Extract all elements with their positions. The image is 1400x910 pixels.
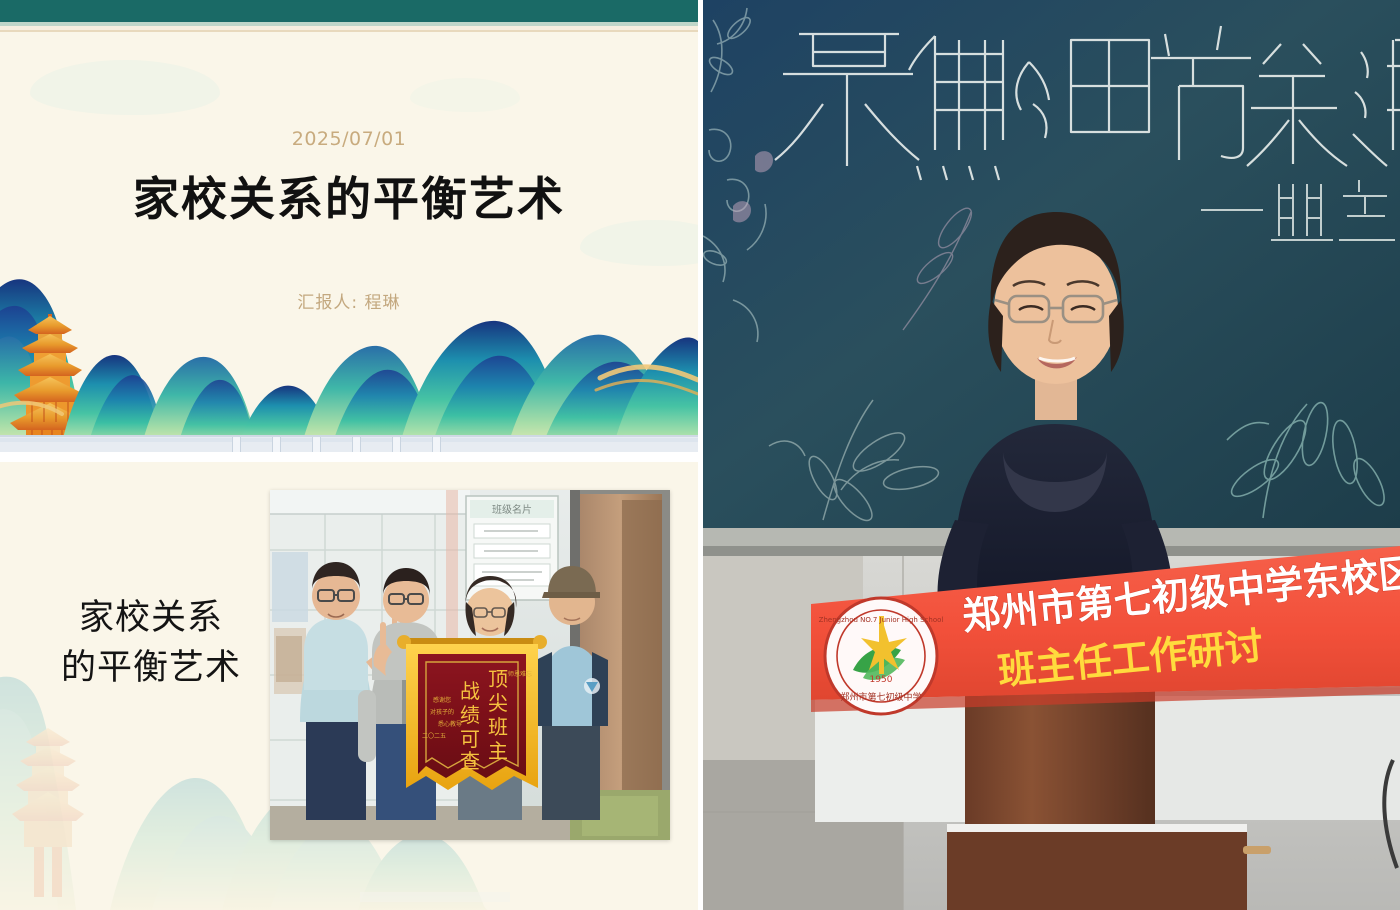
slide-separator-gap: [0, 452, 698, 462]
presentation-photo[interactable]: ThinkPad ThinkPad 1950 Zhengzhou NO.7: [703, 0, 1400, 910]
photo-slide[interactable]: 家校关系 的平衡艺术: [0, 462, 698, 910]
balustrade-decor: [0, 435, 698, 452]
svg-text:感谢您: 感谢您: [433, 696, 451, 704]
svg-text:绩: 绩: [460, 703, 480, 727]
svg-text:可: 可: [460, 727, 480, 751]
photo-slide-title-line1: 家校关系: [36, 594, 266, 644]
slide-top-accent-bar: [0, 0, 698, 22]
svg-text:战: 战: [460, 679, 480, 703]
svg-text:顶: 顶: [488, 667, 508, 691]
svg-text:1950: 1950: [870, 675, 893, 685]
screenshot-root: 2025/07/01 家校关系的平衡艺术 汇报人: 程琳: [0, 0, 1400, 910]
students-teacher-pennant-photo[interactable]: 班级名片: [270, 490, 670, 840]
svg-text:郑州市第七初级中学: 郑州市第七初级中学: [840, 691, 921, 703]
svg-text:班级名片: 班级名片: [492, 503, 532, 516]
photo-slide-title-line2: 的平衡艺术: [36, 644, 266, 694]
svg-text:悉心教导: 悉心教导: [438, 720, 462, 728]
svg-text:查: 查: [460, 749, 480, 773]
left-slide-column: 2025/07/01 家校关系的平衡艺术 汇报人: 程琳: [0, 0, 698, 910]
svg-text:二〇二五: 二〇二五: [422, 733, 446, 740]
slide-date: 2025/07/01: [0, 128, 698, 150]
svg-text:尖: 尖: [488, 691, 508, 715]
title-slide[interactable]: 2025/07/01 家校关系的平衡艺术 汇报人: 程琳: [0, 0, 698, 452]
photo-slide-title: 家校关系 的平衡艺术: [36, 594, 266, 693]
svg-text:师恩难忘: 师恩难忘: [508, 670, 532, 678]
svg-text:班: 班: [488, 715, 508, 739]
svg-text:对孩子的: 对孩子的: [430, 708, 454, 716]
slide-main-title: 家校关系的平衡艺术: [0, 163, 698, 229]
svg-text:主: 主: [488, 739, 508, 763]
svg-text:Zhengzhou NO.7 Junior High Sch: Zhengzhou NO.7 Junior High School: [819, 616, 944, 624]
cloud-decor-left: [30, 60, 220, 115]
mountain-pagoda-illustration: [0, 262, 698, 452]
slide-top-hairline-gold: [0, 30, 698, 32]
cloud-decor-top: [410, 78, 520, 112]
